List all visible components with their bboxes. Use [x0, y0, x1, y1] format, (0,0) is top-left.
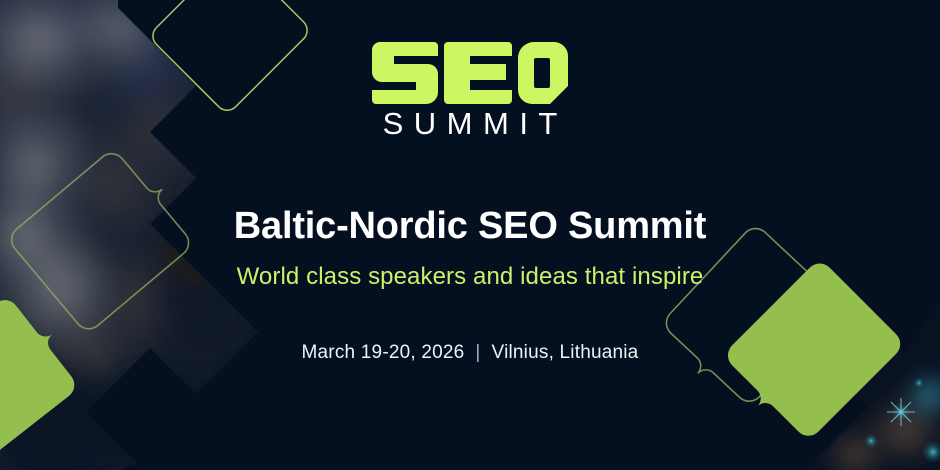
event-location: Vilnius, Lithuania: [492, 343, 639, 362]
event-dates: March 19-20, 2026: [302, 343, 465, 362]
event-banner: SUMMIT Baltic-Nordic SEO Summit World cl…: [0, 0, 940, 470]
page-title: Baltic-Nordic SEO Summit: [234, 205, 706, 249]
banner-content: SUMMIT Baltic-Nordic SEO Summit World cl…: [0, 0, 940, 470]
meta-separator: |: [475, 343, 480, 362]
seo-logo-mark: [372, 42, 568, 104]
summit-wordmark: SUMMIT: [372, 108, 568, 139]
page-subtitle: World class speakers and ideas that insp…: [237, 263, 704, 292]
event-logo: SUMMIT: [372, 42, 568, 139]
event-meta: March 19-20, 2026 | Vilnius, Lithuania: [302, 343, 639, 362]
